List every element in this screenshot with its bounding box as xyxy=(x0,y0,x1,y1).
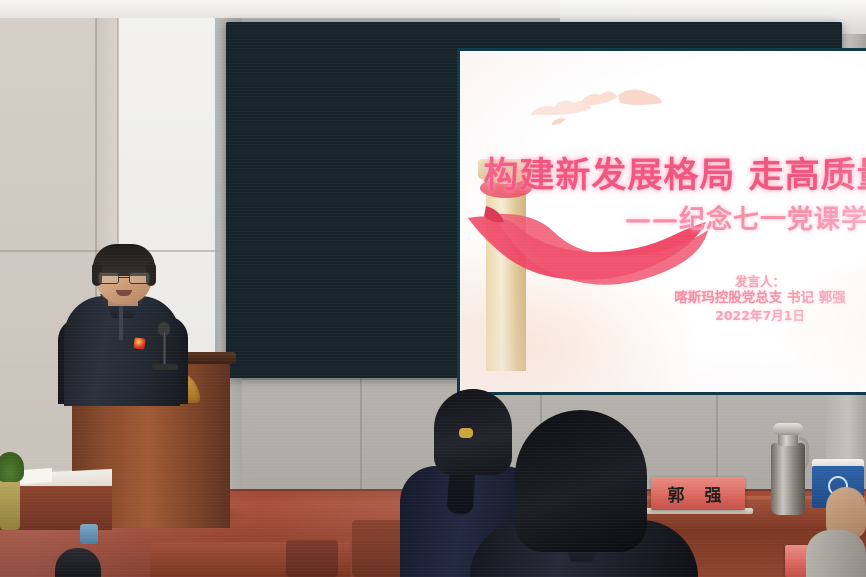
microphone-base xyxy=(152,364,178,370)
slide-subtitle: ——纪念七一党课学习 xyxy=(460,199,866,236)
slide-date: 2022年7月1日 xyxy=(460,307,866,324)
water-cup xyxy=(80,524,98,544)
cloud-motif-icon xyxy=(490,79,720,135)
slide-title: 构建新发展格局 走高质量发展之路 xyxy=(460,147,866,198)
projection-screen[interactable]: 构建新发展格局 走高质量发展之路 ——纪念七一党课学习 发言人： 喀斯玛控股党总… xyxy=(460,51,866,392)
party-emblem-pin-icon xyxy=(133,337,145,349)
audience-member-bob-head xyxy=(515,410,647,552)
thermos-cap xyxy=(773,423,803,435)
eyeglass-bridge xyxy=(119,277,129,278)
thermos-flask xyxy=(771,443,805,515)
potted-plant-leaves xyxy=(0,452,24,482)
microphone-stem xyxy=(163,332,166,368)
audience-member-ponytail-head xyxy=(434,389,512,475)
eyeglass-lens-right xyxy=(129,272,150,284)
wall-seam-vertical-1 xyxy=(360,378,362,493)
chair-back-left xyxy=(286,540,338,577)
wall-seam-vertical-3 xyxy=(716,378,718,493)
eyeglasses-icon xyxy=(97,272,151,284)
slide-speaker-label: 发言人： xyxy=(460,273,866,290)
slide-speaker-name: 喀斯玛控股党总支 书记 郭强 xyxy=(460,290,866,307)
slide-byline: 发言人： 喀斯玛控股党总支 书记 郭强 2022年7月1日 xyxy=(460,273,866,324)
hair-tie-icon xyxy=(459,428,473,438)
projection-screen-frame: 构建新发展格局 走高质量发展之路 ——纪念七一党课学习 发言人： 喀斯玛控股党总… xyxy=(226,22,842,378)
nameplate-guo-qiang: 郭 强 xyxy=(651,477,745,510)
audience-member-right-body xyxy=(806,530,866,577)
presentation-room-scene: 构建新发展格局 走高质量发展之路 ——纪念七一党课学习 发言人： 喀斯玛控股党总… xyxy=(0,0,866,577)
eyeglass-lens-left xyxy=(98,272,119,284)
speaker-shirt-placket xyxy=(119,306,123,340)
